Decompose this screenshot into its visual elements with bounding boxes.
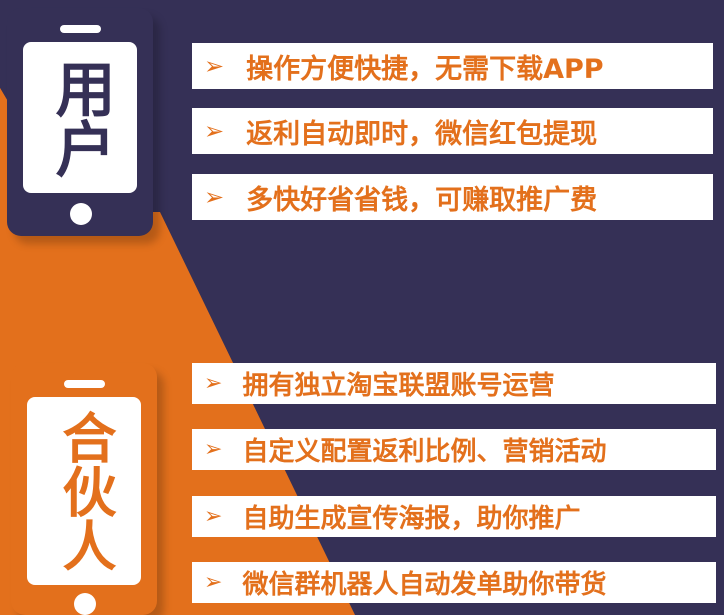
bullet-text: 微信群机器人自动发单助你带货 — [242, 564, 606, 601]
phone-label-user: 用户 — [50, 58, 110, 178]
phone-screen-partner: 合伙人 — [27, 397, 141, 585]
bullet-row-partner-1[interactable]: ➢ 拥有独立淘宝联盟账号运营 — [192, 363, 716, 404]
bullet-row-partner-3[interactable]: ➢ 自助生成宣传海报，助你推广 — [192, 496, 716, 537]
phone-device-partner: 合伙人 — [11, 363, 157, 615]
promo-poster: 用户 ➢ 操作方便快捷，无需下载APP ➢ 返利自动即时，微信红包提现 ➢ 多快… — [0, 0, 724, 615]
bullet-row-user-2[interactable]: ➢ 返利自动即时，微信红包提现 — [192, 108, 713, 154]
chevron-right-icon: ➢ — [204, 185, 224, 209]
chevron-right-icon: ➢ — [204, 439, 222, 461]
bullet-row-partner-4[interactable]: ➢ 微信群机器人自动发单助你带货 — [192, 562, 716, 603]
phone-home-button-icon[interactable] — [70, 203, 92, 225]
bullet-row-user-1[interactable]: ➢ 操作方便快捷，无需下载APP — [192, 43, 713, 89]
phone-speaker-icon — [64, 380, 105, 388]
chevron-right-icon: ➢ — [204, 54, 224, 78]
bullet-text: 多快好省省钱，可赚取推广费 — [246, 178, 597, 217]
bullet-text: 拥有独立淘宝联盟账号运营 — [242, 365, 554, 402]
phone-home-button-icon[interactable] — [74, 593, 96, 615]
chevron-right-icon: ➢ — [204, 572, 222, 594]
chevron-right-icon: ➢ — [204, 373, 222, 395]
bullet-text: 操作方便快捷，无需下载APP — [246, 47, 603, 86]
bullet-text: 返利自动即时，微信红包提现 — [246, 112, 597, 151]
chevron-right-icon: ➢ — [204, 506, 222, 528]
bullet-text: 自定义配置返利比例、营销活动 — [242, 431, 606, 468]
bullet-row-user-3[interactable]: ➢ 多快好省省钱，可赚取推广费 — [192, 174, 713, 220]
bullet-row-partner-2[interactable]: ➢ 自定义配置返利比例、营销活动 — [192, 429, 716, 470]
phone-screen-user: 用户 — [23, 42, 137, 193]
chevron-right-icon: ➢ — [204, 119, 224, 143]
phone-device-user: 用户 — [7, 8, 153, 236]
phone-speaker-icon — [60, 25, 101, 33]
phone-label-partner: 合伙人 — [57, 410, 111, 572]
bullet-text: 自助生成宣传海报，助你推广 — [242, 498, 580, 535]
